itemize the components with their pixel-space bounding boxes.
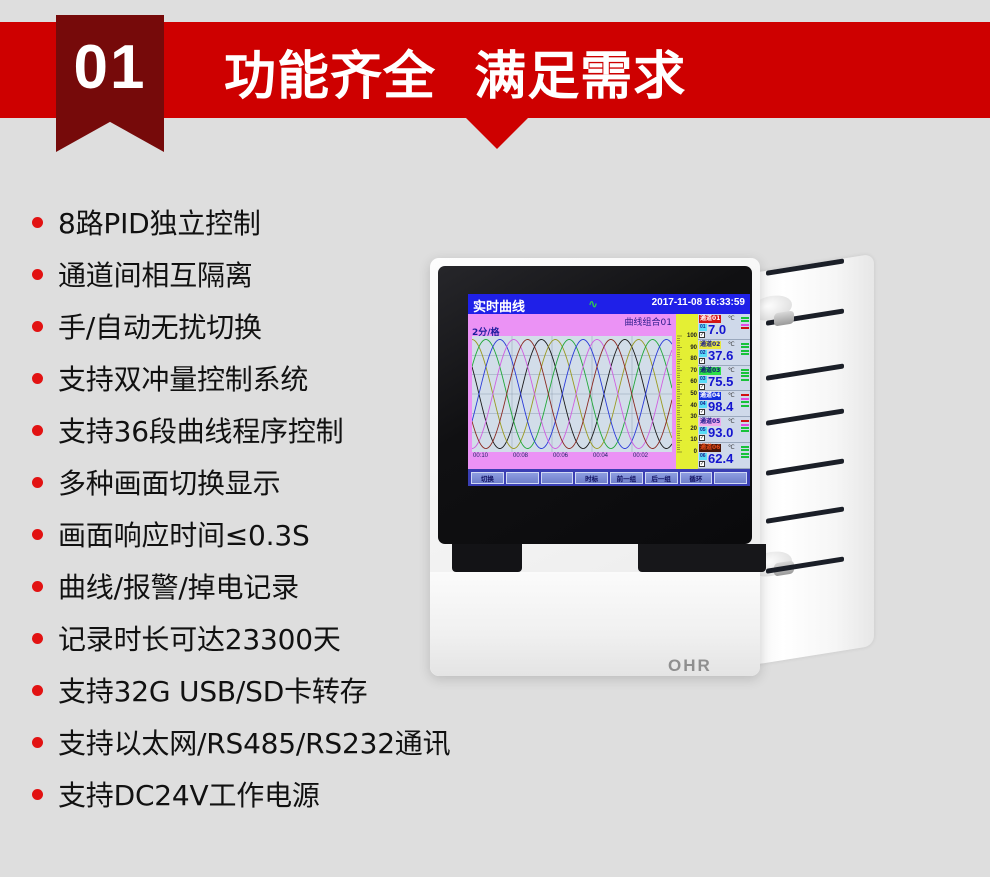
feature-item: 手/自动无扰切换 <box>32 300 452 352</box>
bullet-icon <box>32 321 43 332</box>
feature-item: 多种画面切换显示 <box>32 456 452 508</box>
bullet-icon <box>32 633 43 644</box>
channel-row[interactable]: 通道06℃06✓62.4 <box>698 443 750 469</box>
bracket-slot-5 <box>766 506 844 523</box>
channel-index: 04 <box>699 401 707 408</box>
scale-tick-label: 70 <box>690 368 697 374</box>
bullet-icon <box>32 217 43 228</box>
scale-tick-label: 60 <box>690 379 697 385</box>
channel-value: 93.0 <box>708 425 733 440</box>
channel-bar-indicators <box>741 394 749 408</box>
trend-curves <box>472 336 672 452</box>
feature-item: 支持32G USB/SD卡转存 <box>32 664 452 716</box>
bracket-slot-3 <box>766 408 844 425</box>
time-tick-label: 00:02 <box>633 453 648 459</box>
channel-checkbox[interactable]: ✓ <box>699 358 705 364</box>
channel-bar <box>741 456 749 458</box>
section-number-ribbon: 01 <box>56 15 164 152</box>
bullet-icon <box>32 477 43 488</box>
feature-item: 支持双冲量控制系统 <box>32 352 452 404</box>
bullet-icon <box>32 789 43 800</box>
channel-checkbox[interactable]: ✓ <box>699 435 705 441</box>
feature-item: 通道间相互隔离 <box>32 248 452 300</box>
bracket-slot-3a <box>766 258 844 275</box>
bracket-knob-top <box>774 310 794 326</box>
channel-value: 98.4 <box>708 399 733 414</box>
brand-logo: OHR <box>668 656 712 676</box>
channel-row[interactable]: 通道04℃04✓98.4 <box>698 391 750 417</box>
bullet-icon <box>32 581 43 592</box>
channel-bar <box>741 420 749 422</box>
time-tick-label: 00:04 <box>593 453 608 459</box>
bracket-slot-2 <box>766 363 844 380</box>
banner-arrow-icon <box>466 118 528 149</box>
feature-item: 支持以太网/RS485/RS232通讯 <box>32 716 452 768</box>
lcd-button-0[interactable]: 切换 <box>471 472 504 484</box>
feature-label: 支持以太网/RS485/RS232通讯 <box>58 722 450 762</box>
channel-bar <box>741 346 749 348</box>
device-illustration: OHR 实时曲线 ∿ 2017-11-08 16:33:59 曲线组合01 2分… <box>424 258 984 678</box>
channel-bar <box>741 320 749 322</box>
lcd-button-empty-2[interactable] <box>541 472 574 484</box>
channel-bar <box>741 424 749 426</box>
bullet-icon <box>32 425 43 436</box>
vertical-scale: 1009080706050403020100 <box>676 314 698 469</box>
channel-bar <box>741 317 749 319</box>
feature-label: 画面响应时间≤0.3S <box>58 514 310 554</box>
channel-bar-indicators <box>741 446 749 460</box>
channel-bar <box>741 398 749 400</box>
feature-label: 多种画面切换显示 <box>58 462 280 502</box>
channel-value: 37.6 <box>708 348 733 363</box>
channel-unit: ℃ <box>728 341 735 348</box>
channel-panel[interactable]: 通道01℃01✓7.0通道02℃02✓37.6通道03℃03✓75.5通道04℃… <box>698 314 750 469</box>
feature-label: 曲线/报警/掉电记录 <box>58 566 299 606</box>
channel-value: 7.0 <box>708 322 726 337</box>
scale-tick-label: 20 <box>690 426 697 432</box>
bracket-slot-4 <box>766 458 844 475</box>
lcd-button-6[interactable]: 循环 <box>680 472 713 484</box>
channel-bar <box>741 405 749 407</box>
channel-unit: ℃ <box>728 367 735 374</box>
channel-checkbox[interactable]: ✓ <box>699 384 705 390</box>
channel-bar <box>741 401 749 403</box>
scale-tick-label: 100 <box>687 333 697 339</box>
feature-list: 8路PID独立控制通道间相互隔离手/自动无扰切换支持双冲量控制系统支持36段曲线… <box>32 196 452 820</box>
lcd-screen[interactable]: 实时曲线 ∿ 2017-11-08 16:33:59 曲线组合01 2分/格 0… <box>468 294 750 486</box>
feature-item: 支持DC24V工作电源 <box>32 768 452 820</box>
feature-label: 支持32G USB/SD卡转存 <box>58 670 367 710</box>
feature-label: 记录时长可达23300天 <box>58 618 341 658</box>
mounting-bracket <box>744 254 874 667</box>
channel-index: 02 <box>699 350 707 357</box>
channel-index: 05 <box>699 427 707 434</box>
page-title: 功能齐全 满足需求 <box>224 34 686 109</box>
time-tick-label: 00:08 <box>513 453 528 459</box>
channel-bar <box>741 369 749 371</box>
channel-row[interactable]: 通道01℃01✓7.0 <box>698 314 750 340</box>
channel-bar <box>741 446 749 448</box>
channel-bar <box>741 379 749 381</box>
bullet-icon <box>32 373 43 384</box>
feature-item: 画面响应时间≤0.3S <box>32 508 452 560</box>
feature-label: 支持DC24V工作电源 <box>58 774 320 814</box>
feature-label: 支持双冲量控制系统 <box>58 358 308 398</box>
scale-tick-label: 30 <box>690 414 697 420</box>
channel-bar <box>741 350 749 352</box>
channel-bar <box>741 372 749 374</box>
channel-bar-indicators <box>741 343 749 357</box>
channel-bar <box>741 449 749 451</box>
device-bezel: 实时曲线 ∿ 2017-11-08 16:33:59 曲线组合01 2分/格 0… <box>438 266 752 544</box>
channel-row[interactable]: 通道03℃03✓75.5 <box>698 366 750 392</box>
channel-bar-indicators <box>741 317 749 331</box>
trend-plot[interactable]: 曲线组合01 2分/格 00:1000:0800:0600:0400:02 <box>468 314 676 469</box>
channel-unit: ℃ <box>728 444 735 451</box>
scale-ruler-ticks <box>677 314 682 469</box>
feature-label: 手/自动无扰切换 <box>58 306 262 346</box>
channel-index: 06 <box>699 453 707 460</box>
bullet-icon <box>32 685 43 696</box>
section-number: 01 <box>56 37 164 99</box>
channel-row[interactable]: 通道05℃05✓93.0 <box>698 417 750 443</box>
channel-value: 62.4 <box>708 451 733 466</box>
channel-unit: ℃ <box>728 418 735 425</box>
feature-label: 支持36段曲线程序控制 <box>58 410 343 450</box>
lcd-button-4[interactable]: 前一组 <box>610 472 643 484</box>
channel-bar-indicators <box>741 420 749 434</box>
channel-value: 75.5 <box>708 374 733 389</box>
time-tick-label: 00:06 <box>553 453 568 459</box>
bullet-icon <box>32 269 43 280</box>
bullet-icon <box>32 737 43 748</box>
channel-index: 03 <box>699 376 707 383</box>
channel-bar <box>741 327 749 329</box>
feature-item: 支持36段曲线程序控制 <box>32 404 452 456</box>
time-axis: 00:1000:0800:0600:0400:02 <box>472 453 672 465</box>
scale-tick-label: 40 <box>690 403 697 409</box>
channel-bar <box>741 427 749 429</box>
time-tick-label: 00:10 <box>473 453 488 459</box>
feature-label: 通道间相互隔离 <box>58 254 253 294</box>
lcd-button-empty-7[interactable] <box>714 472 747 484</box>
lcd-screen-title: 实时曲线 <box>473 296 525 315</box>
channel-bar <box>741 453 749 455</box>
curve-group-label: 曲线组合01 <box>625 315 672 328</box>
scale-tick-label: 0 <box>694 449 697 455</box>
channel-index: 01 <box>699 324 707 331</box>
channel-bar <box>741 324 749 326</box>
lcd-button-bar: 切换时标前一组后一组循环 <box>468 469 750 486</box>
channel-bar <box>741 394 749 396</box>
feature-item: 曲线/报警/掉电记录 <box>32 560 452 612</box>
lcd-button-5[interactable]: 后一组 <box>645 472 678 484</box>
scale-tick-label: 10 <box>690 437 697 443</box>
channel-row[interactable]: 通道02℃02✓37.6 <box>698 340 750 366</box>
lcd-button-3[interactable]: 时标 <box>575 472 608 484</box>
lcd-datetime: 2017-11-08 16:33:59 <box>652 297 745 308</box>
scale-tick-label: 80 <box>690 356 697 362</box>
channel-bar <box>741 430 749 432</box>
channel-bar <box>741 343 749 345</box>
waveform-icon: ∿ <box>588 297 597 311</box>
channel-unit: ℃ <box>728 315 735 322</box>
feature-label: 8路PID独立控制 <box>58 202 261 242</box>
lcd-button-empty-1[interactable] <box>506 472 539 484</box>
scale-tick-label: 90 <box>690 345 697 351</box>
bullet-icon <box>32 529 43 540</box>
scale-tick-label: 50 <box>690 391 697 397</box>
page-root: 01 功能齐全 满足需求 8路PID独立控制通道间相互隔离手/自动无扰切换支持双… <box>0 0 990 877</box>
channel-bar-indicators <box>741 369 749 383</box>
bezel-tab-right <box>638 544 766 572</box>
plot-area <box>472 336 672 452</box>
device-case-lower: OHR <box>430 572 760 676</box>
channel-bar <box>741 353 749 355</box>
feature-item: 8路PID独立控制 <box>32 196 452 248</box>
feature-item: 记录时长可达23300天 <box>32 612 452 664</box>
bezel-tab-left <box>452 544 522 572</box>
channel-unit: ℃ <box>728 392 735 399</box>
channel-bar <box>741 375 749 377</box>
channel-checkbox[interactable]: ✓ <box>699 461 705 467</box>
channel-checkbox[interactable]: ✓ <box>699 409 705 415</box>
channel-checkbox[interactable]: ✓ <box>699 332 705 338</box>
